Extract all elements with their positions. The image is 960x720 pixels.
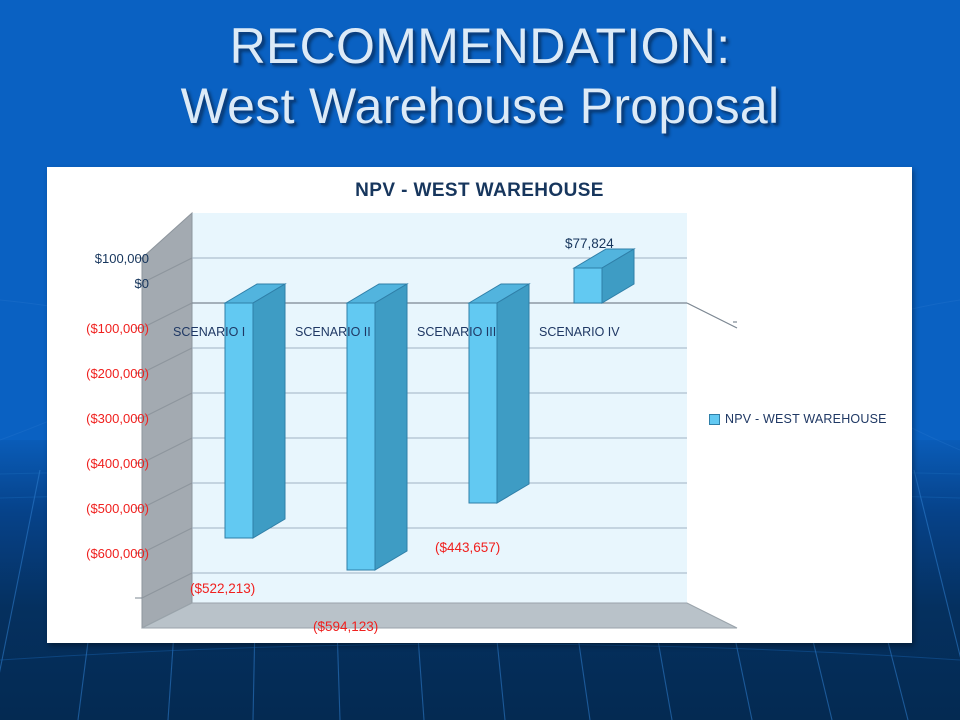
category-label-scenario-1: SCENARIO I — [173, 325, 245, 339]
chart-legend[interactable]: NPV - WEST WAREHOUSE — [709, 412, 887, 426]
y-tick-label-5: ($400,000) — [53, 457, 149, 470]
title-line-2: West Warehouse Proposal — [0, 76, 960, 136]
y-tick-label-4: ($300,000) — [53, 412, 149, 425]
y-tick-label-6: ($500,000) — [53, 502, 149, 515]
legend-swatch-icon — [709, 414, 720, 425]
data-label-scenario-2: ($594,123) — [313, 619, 378, 634]
chart-floor — [142, 603, 737, 628]
bar-scenario-1[interactable] — [225, 284, 285, 538]
y-tick-label-1: $0 — [53, 277, 149, 290]
y-tick-label-2: ($100,000) — [53, 322, 149, 335]
data-label-scenario-3: ($443,657) — [435, 540, 500, 555]
y-tick-label-0: $100,000 — [53, 252, 149, 265]
category-label-scenario-2: SCENARIO II — [295, 325, 371, 339]
title-line-1: RECOMMENDATION: — [230, 18, 731, 74]
legend-label: NPV - WEST WAREHOUSE — [725, 412, 887, 426]
data-label-scenario-1: ($522,213) — [190, 581, 255, 596]
chart-plot-area — [47, 167, 912, 643]
page-title: RECOMMENDATION: West Warehouse Proposal — [0, 16, 960, 136]
bar-scenario-3[interactable] — [469, 284, 529, 503]
y-tick-label-3: ($200,000) — [53, 367, 149, 380]
data-label-scenario-4: $77,824 — [565, 236, 614, 251]
category-label-scenario-3: SCENARIO III — [417, 325, 496, 339]
chart-panel[interactable]: NPV - WEST WAREHOUSE — [47, 167, 912, 643]
y-tick-label-7: ($600,000) — [53, 547, 149, 560]
chart-y-axis-labels: $100,000 $0 ($100,000) ($200,000) ($300,… — [49, 167, 149, 643]
chart-left-wall — [142, 213, 192, 628]
category-label-scenario-4: SCENARIO IV — [539, 325, 620, 339]
